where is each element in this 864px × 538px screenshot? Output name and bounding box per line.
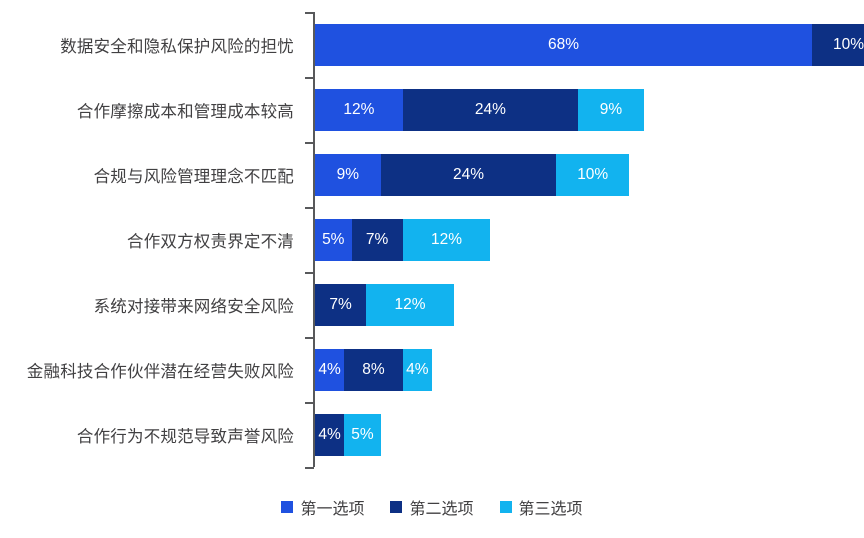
bar-value-label: 68% [548,37,579,53]
stacked-bar-chart: 数据安全和隐私保护风险的担忧68%10%4%合作摩擦成本和管理成本较高12%24… [0,0,864,538]
category-label: 系统对接带来网络安全风险 [4,272,294,337]
stacked-bar[interactable]: 4%8%4% [315,337,432,402]
bar-segment[interactable]: 7% [352,219,403,261]
bar-segment[interactable]: 5% [344,414,381,456]
legend-swatch-icon [500,501,512,513]
bar-row: 合作摩擦成本和管理成本较高12%24%9% [0,77,864,142]
bar-row: 数据安全和隐私保护风险的担忧68%10%4% [0,12,864,77]
stacked-bar[interactable]: 12%24%9% [315,77,644,142]
bar-segment[interactable]: 12% [403,219,491,261]
legend-label: 第二选项 [409,495,473,519]
bar-value-label: 12% [394,297,425,313]
bar-row: 系统对接带来网络安全风险7%12% [0,272,864,337]
stacked-bar[interactable]: 68%10%4% [315,12,864,77]
category-label: 数据安全和隐私保护风险的担忧 [4,12,294,77]
bar-value-label: 12% [343,102,374,118]
legend-item[interactable]: 第三选项 [500,495,583,519]
bar-segment[interactable]: 24% [403,89,578,131]
chart-legend: 第一选项第二选项第三选项 [0,492,864,522]
bar-value-label: 10% [577,167,608,183]
bar-segment[interactable]: 12% [315,89,403,131]
bar-segment[interactable]: 10% [812,24,864,66]
plot-area: 数据安全和隐私保护风险的担忧68%10%4%合作摩擦成本和管理成本较高12%24… [0,0,864,478]
stacked-bar[interactable]: 9%24%10% [315,142,629,207]
bar-segment[interactable]: 68% [315,24,812,66]
bar-row: 合规与风险管理理念不匹配9%24%10% [0,142,864,207]
bar-value-label: 4% [318,362,340,378]
bar-segment[interactable]: 24% [381,154,556,196]
legend-label: 第一选项 [300,495,364,519]
legend-item[interactable]: 第一选项 [281,495,364,519]
stacked-bar[interactable]: 4%5% [315,402,381,467]
bar-segment[interactable]: 4% [403,349,432,391]
legend-swatch-icon [390,501,402,513]
bar-value-label: 24% [453,167,484,183]
axis-tick [305,467,314,469]
legend-swatch-icon [281,501,293,513]
bar-value-label: 5% [322,232,344,248]
bar-row: 合作行为不规范导致声誉风险4%5% [0,402,864,467]
bar-value-label: 4% [318,427,340,443]
bar-segment[interactable]: 5% [315,219,352,261]
bar-segment[interactable]: 4% [315,414,344,456]
legend-label: 第三选项 [519,495,583,519]
legend-item[interactable]: 第二选项 [390,495,473,519]
bar-segment[interactable]: 9% [578,89,644,131]
bar-segment[interactable]: 8% [344,349,402,391]
bar-value-label: 10% [833,37,864,53]
bar-value-label: 7% [366,232,388,248]
bar-segment[interactable]: 10% [556,154,629,196]
category-label: 金融科技合作伙伴潜在经营失败风险 [4,337,294,402]
category-label: 合规与风险管理理念不匹配 [4,142,294,207]
stacked-bar[interactable]: 7%12% [315,272,454,337]
bar-segment[interactable]: 12% [366,284,454,326]
category-label: 合作双方权责界定不清 [4,207,294,272]
bar-value-label: 7% [329,297,351,313]
bar-value-label: 9% [600,102,622,118]
bar-value-label: 8% [362,362,384,378]
bar-value-label: 12% [431,232,462,248]
stacked-bar[interactable]: 5%7%12% [315,207,490,272]
bar-value-label: 5% [351,427,373,443]
category-label: 合作行为不规范导致声誉风险 [4,402,294,467]
bar-value-label: 9% [337,167,359,183]
bar-value-label: 4% [406,362,428,378]
category-label: 合作摩擦成本和管理成本较高 [4,77,294,142]
bar-segment[interactable]: 7% [315,284,366,326]
bar-segment[interactable]: 4% [315,349,344,391]
bar-row: 合作双方权责界定不清5%7%12% [0,207,864,272]
bar-value-label: 24% [475,102,506,118]
bar-row: 金融科技合作伙伴潜在经营失败风险4%8%4% [0,337,864,402]
bar-segment[interactable]: 9% [315,154,381,196]
